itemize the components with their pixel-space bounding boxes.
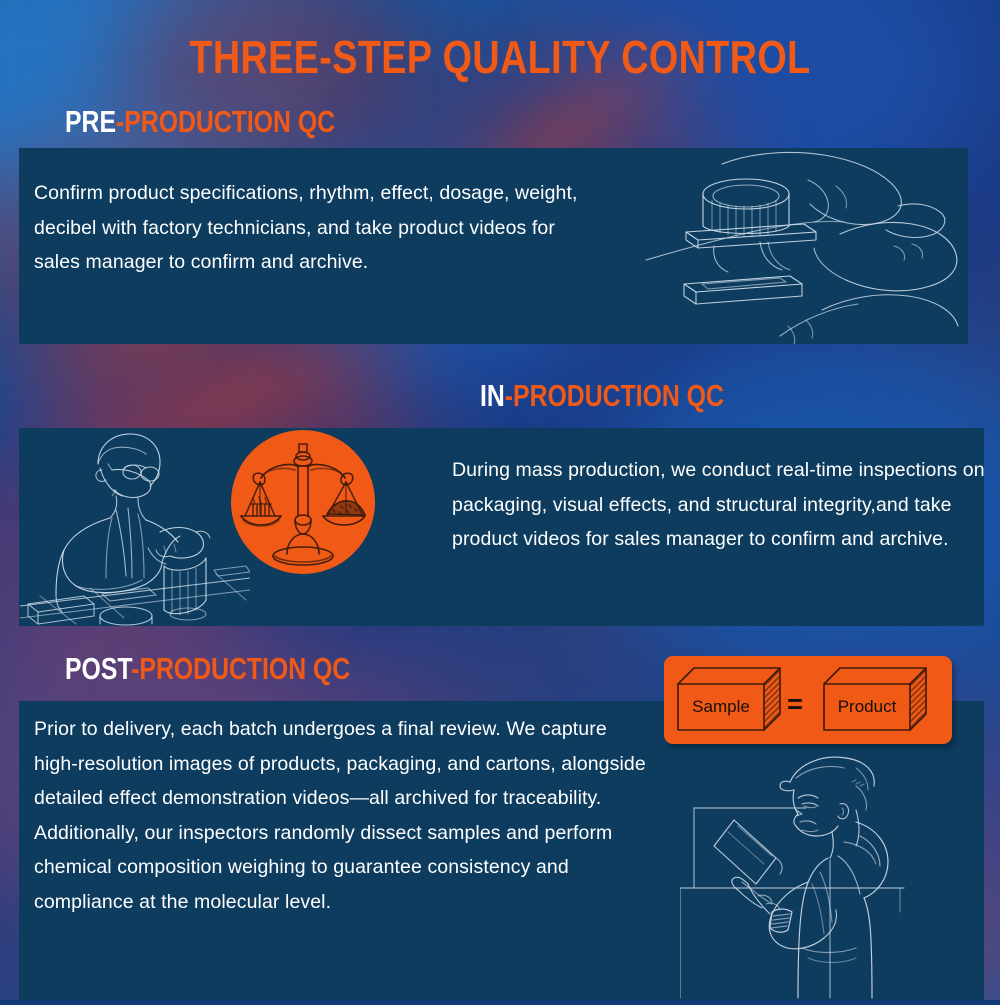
body-text-post-production: Prior to delivery, each batch undergoes … <box>34 712 654 919</box>
left-box-label: Sample <box>692 697 750 716</box>
equals-operator: = <box>787 689 803 719</box>
body-text-in-production: During mass production, we conduct real-… <box>452 453 986 557</box>
section-title-white-part: PRE <box>65 104 116 139</box>
balance-scale-badge <box>231 430 375 574</box>
right-box-label: Product <box>838 697 897 716</box>
section-title-white-part: POST <box>65 651 131 686</box>
section-title-in-production: IN-PRODUCTION QC <box>480 380 724 411</box>
section-title-pre-production: PRE-PRODUCTION QC <box>65 106 335 137</box>
section-title-orange-part: -PRODUCTION QC <box>116 104 335 139</box>
page-title: THREE-STEP QUALITY CONTROL <box>90 34 910 80</box>
body-text-pre-production: Confirm product specifications, rhythm, … <box>34 176 594 280</box>
section-title-orange-part: -PRODUCTION QC <box>131 651 350 686</box>
section-title-post-production: POST-PRODUCTION QC <box>65 653 350 684</box>
section-title-orange-part: -PRODUCTION QC <box>505 378 724 413</box>
section-title-white-part: IN <box>480 378 505 413</box>
sample-equals-product-card: Sample = Product <box>664 656 952 744</box>
